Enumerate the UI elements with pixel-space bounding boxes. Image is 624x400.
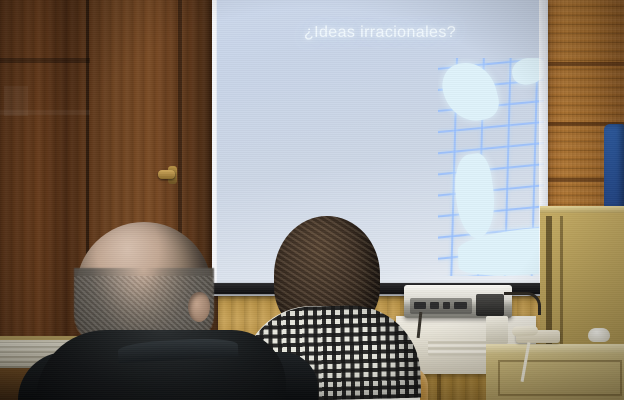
right-wall-rail-1 xyxy=(540,62,624,66)
screen-edge-left xyxy=(212,0,217,283)
slide-title: ¿Ideas irracionales? xyxy=(216,24,544,42)
projector-lens-housing xyxy=(476,294,504,316)
photo-scene: ¿Ideas irracionales? xyxy=(0,0,624,400)
projector-port-vga xyxy=(414,302,426,309)
telephone-handset[interactable] xyxy=(512,325,538,336)
projector-port-serial xyxy=(454,302,467,309)
computer-mouse[interactable] xyxy=(588,328,610,342)
projection-screen-surface xyxy=(216,0,544,283)
projector-top-cover xyxy=(404,285,512,293)
right-desk-trim-1 xyxy=(546,216,552,348)
door-handle[interactable] xyxy=(158,170,175,179)
lower-right-desk-panel xyxy=(498,360,622,396)
right-desk-top-edge xyxy=(540,206,624,213)
projector-power-cable xyxy=(504,292,541,315)
lower-right-desk-top xyxy=(486,344,624,353)
blue-chair[interactable] xyxy=(604,124,624,208)
right-desk-panel xyxy=(540,206,624,348)
projector-port-audio xyxy=(443,302,450,309)
projector-port-video xyxy=(430,302,439,309)
person-a-ear xyxy=(188,292,210,322)
door-rail-upper xyxy=(0,58,90,63)
slide-world-map-graphic xyxy=(438,58,544,276)
side-equipment-box xyxy=(486,316,508,344)
right-desk-trim-2 xyxy=(560,216,563,348)
door-panel-highlight xyxy=(4,86,28,116)
